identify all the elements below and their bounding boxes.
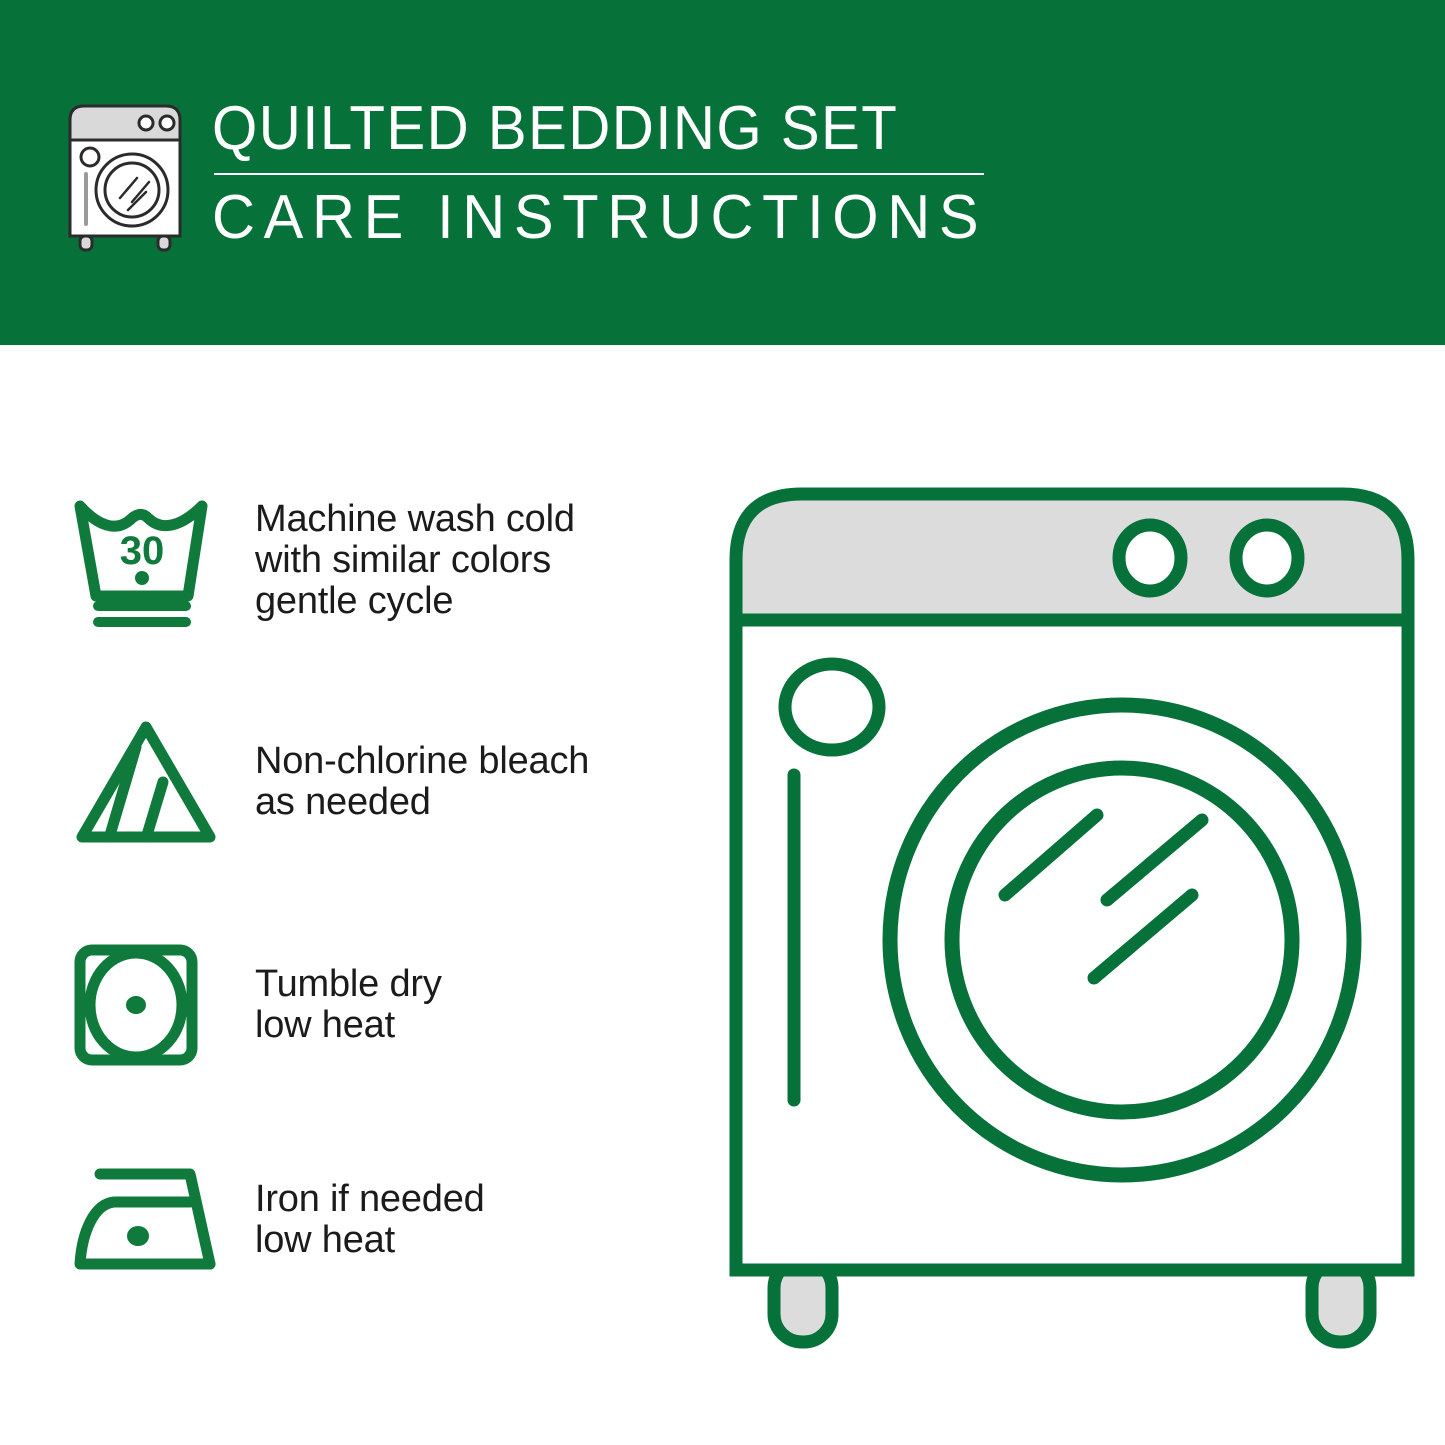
control-dial-right[interactable]: [1236, 525, 1298, 591]
care-label-line: Non-chlorine bleach: [255, 741, 589, 782]
care-label-line: with similar colors: [255, 540, 575, 581]
header-content: QUILTED BEDDING SET CARE INSTRUCTIONS: [62, 96, 1002, 271]
care-label-line: Machine wash cold: [255, 499, 575, 540]
washing-machine-illustration: [722, 470, 1422, 1370]
control-dial-left[interactable]: [1119, 525, 1181, 591]
care-label-line: Iron if needed: [255, 1179, 485, 1220]
care-instruction-list: 30 Machine wash cold with similar colors…: [0, 345, 700, 1445]
iron-icon: [70, 1160, 222, 1280]
wash-tub-icon: 30: [70, 492, 215, 628]
care-label-line: low heat: [255, 1220, 485, 1261]
care-label-bleach: Non-chlorine bleach as needed: [255, 741, 589, 823]
page-title: QUILTED BEDDING SET: [212, 96, 971, 162]
care-label-iron: Iron if needed low heat: [255, 1179, 485, 1261]
care-icon-slot: 30: [70, 485, 230, 635]
care-label-line: gentle cycle: [255, 581, 575, 622]
header-divider: [214, 173, 984, 175]
bleach-triangle-icon: [70, 717, 222, 847]
care-label-line: Tumble dry: [255, 964, 442, 1005]
tumble-dry-icon: [70, 940, 202, 1070]
care-label-machine-wash: Machine wash cold with similar colors ge…: [255, 499, 575, 622]
header-band: QUILTED BEDDING SET CARE INSTRUCTIONS: [0, 0, 1445, 345]
care-row-tumble-dry: Tumble dry low heat: [70, 930, 690, 1080]
detergent-knob[interactable]: [785, 664, 879, 750]
low-heat-dot: [126, 996, 146, 1014]
header-text-block: QUILTED BEDDING SET CARE INSTRUCTIONS: [212, 96, 1019, 251]
care-instructions-page: QUILTED BEDDING SET CARE INSTRUCTIONS: [0, 0, 1445, 1445]
drum-inner-ring: [952, 768, 1292, 1112]
control-panel: [736, 494, 1408, 620]
page-subtitle: CARE INSTRUCTIONS: [212, 185, 987, 251]
wash-temperature-label: 30: [120, 529, 165, 573]
washing-machine-icon: [62, 102, 188, 254]
care-label-tumble-dry: Tumble dry low heat: [255, 964, 442, 1046]
care-row-bleach: Non-chlorine bleach as needed: [70, 707, 690, 857]
care-icon-slot: [70, 1145, 230, 1295]
care-row-machine-wash: 30 Machine wash cold with similar colors…: [70, 485, 690, 635]
care-label-line: as needed: [255, 782, 589, 823]
care-icon-slot: [70, 930, 230, 1080]
care-row-iron: Iron if needed low heat: [70, 1145, 690, 1295]
care-icon-slot: [70, 707, 230, 857]
low-heat-dot: [127, 1226, 149, 1246]
care-label-line: low heat: [255, 1005, 442, 1046]
